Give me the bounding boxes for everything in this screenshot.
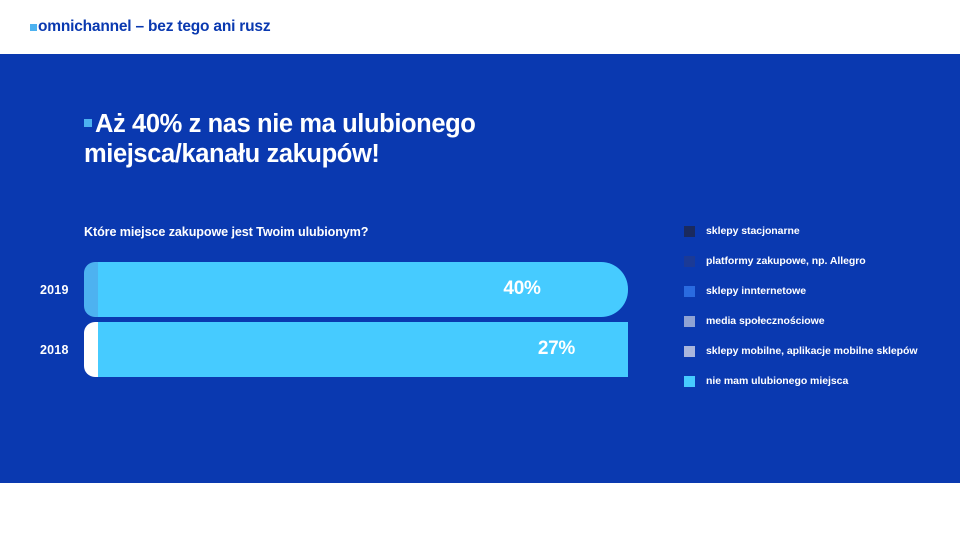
legend-swatch-icon <box>684 316 695 327</box>
legend-item[interactable]: sklepy stacjonarne <box>684 216 954 246</box>
legend-item[interactable]: sklepy mobilne, aplikacje mobilne sklepó… <box>684 336 954 366</box>
legend-item[interactable]: media społecznościowe <box>684 306 954 336</box>
legend-item-label: sklepy innternetowe <box>706 285 806 297</box>
bar-track: 27%7%8%12%14%32% <box>84 322 628 377</box>
chart-legend: sklepy stacjonarneplatformy zakupowe, np… <box>684 216 954 396</box>
header-bullet-icon <box>30 24 37 31</box>
bar-segment-label: 40% <box>503 278 540 300</box>
legend-item-label: nie mam ulubionego miejsca <box>706 375 848 387</box>
footer-band <box>0 483 960 541</box>
legend-item-label: platformy zakupowe, np. Allegro <box>706 255 866 267</box>
legend-swatch-icon <box>684 286 695 297</box>
legend-item-label: sklepy stacjonarne <box>706 225 800 237</box>
header-title: omnichannel – bez tego ani rusz <box>38 18 270 36</box>
slide-body-panel: Aż 40% z nas nie ma ulubionego miejsca/k… <box>0 54 960 483</box>
legend-swatch-icon <box>684 376 695 387</box>
page-header: omnichannel – bez tego ani rusz <box>0 0 960 54</box>
header-title-wrap: omnichannel – bez tego ani rusz <box>30 18 270 36</box>
bar-segment: 40% <box>98 262 628 317</box>
legend-item-label: sklepy mobilne, aplikacje mobilne sklepó… <box>706 345 918 357</box>
bar-segment-label: 27% <box>538 338 575 360</box>
bar-year-label: 2018 <box>40 343 69 357</box>
bar-track: 40%8%9%10%11%22% <box>84 262 628 317</box>
legend-item[interactable]: nie mam ulubionego miejsca <box>684 366 954 396</box>
legend-item-label: media społecznościowe <box>706 315 825 327</box>
legend-item[interactable]: sklepy innternetowe <box>684 276 954 306</box>
legend-swatch-icon <box>684 256 695 267</box>
legend-swatch-icon <box>684 346 695 357</box>
bar-segment: 27% <box>98 322 628 377</box>
legend-swatch-icon <box>684 226 695 237</box>
bar-year-label: 2019 <box>40 283 69 297</box>
legend-item[interactable]: platformy zakupowe, np. Allegro <box>684 246 954 276</box>
